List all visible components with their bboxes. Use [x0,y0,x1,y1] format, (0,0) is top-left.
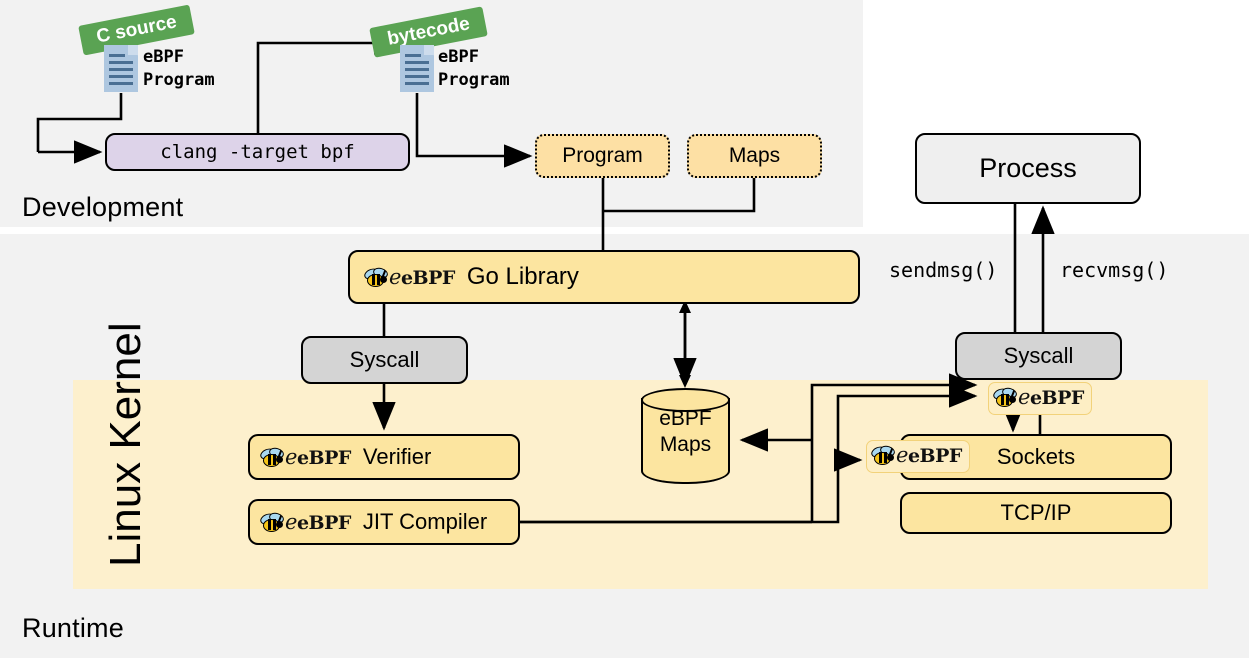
program-text-1: Program [143,69,215,92]
document-icon-bytecode [400,45,434,92]
ebpf-hook-sockets[interactable]: eeBPF [866,440,970,473]
c-source-program-label: eBPF Program [143,46,215,92]
ebpf-logo-icon: eeBPF [260,510,351,534]
ebpf-go-library[interactable]: eeBPF Go Library [348,250,860,304]
ebpf-logo-icon: eeBPF [260,445,351,469]
ebpf-hook-syscall[interactable]: eeBPF [988,382,1092,415]
development-section-label: Development [22,192,183,223]
verifier-label: Verifier [363,444,431,470]
jit-label: JIT Compiler [363,509,487,535]
ebpf-text-2: eBPF [438,46,510,69]
runtime-section-label: Runtime [22,613,124,644]
syscall-box-right[interactable]: Syscall [955,332,1122,380]
tcpip-box[interactable]: TCP/IP [900,492,1172,534]
ebpf-logo-icon: eeBPF [364,265,455,289]
program-text-2: Program [438,69,510,92]
object-program[interactable]: Program [535,134,670,178]
ebpf-wordmark-verifier: eBPF [297,447,351,469]
ebpf-maps-store[interactable]: eBPF Maps [641,388,730,492]
diagram-canvas: Linux Kernel [0,0,1249,658]
document-icon-c-source [104,45,138,92]
ebpf-wordmark-hook-sockets: eBPF [908,445,962,467]
ebpf-wordmark-hook-syscall: eBPF [1030,387,1084,409]
go-library-label: Go Library [467,263,579,291]
recvmsg-label: recvmsg() [1060,258,1168,282]
sendmsg-label: sendmsg() [889,258,997,282]
object-maps[interactable]: Maps [687,134,822,178]
ebpf-logo-icon: eeBPF [871,443,962,467]
ebpf-wordmark-jit: eBPF [297,512,351,534]
clang-command-box[interactable]: clang -target bpf [105,133,410,171]
ebpf-logo-icon: eeBPF [993,385,1084,409]
ebpf-jit-compiler[interactable]: eeBPF JIT Compiler [248,499,520,545]
maps-store-line2: Maps [641,432,730,458]
bytecode-program-label: eBPF Program [438,46,510,92]
linux-kernel-label-text: Linux Kernel [101,322,151,567]
ebpf-verifier[interactable]: eeBPF Verifier [248,434,520,480]
ebpf-text-1: eBPF [143,46,215,69]
ebpf-wordmark-golib: eBPF [401,267,455,289]
maps-store-line1: eBPF [641,406,730,432]
process-box[interactable]: Process [915,133,1141,204]
syscall-box-left[interactable]: Syscall [301,336,468,384]
linux-kernel-label: Linux Kernel [95,395,275,575]
